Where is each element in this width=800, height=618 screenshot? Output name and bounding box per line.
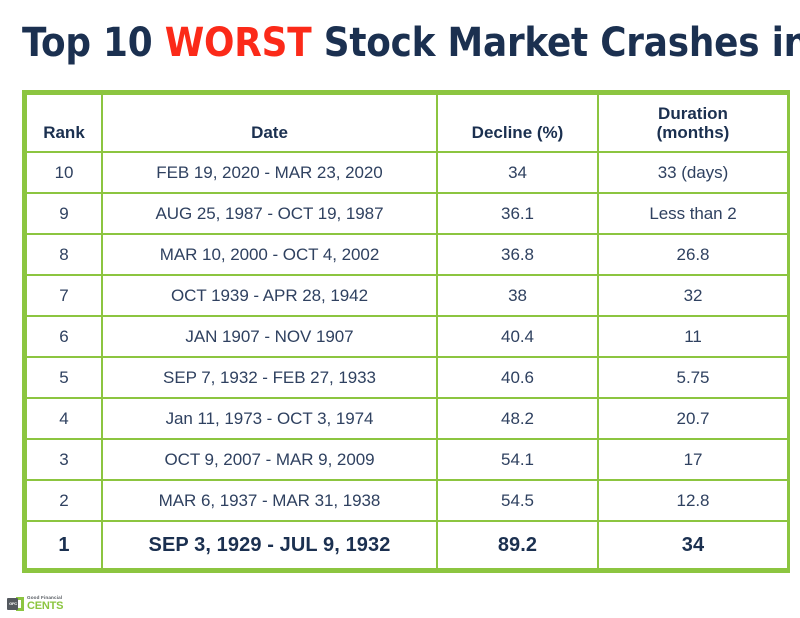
cell-decline: 89.2 [437,521,598,569]
cell-date: SEP 7, 1932 - FEB 27, 1933 [102,357,437,398]
table-row: 10 FEB 19, 2020 - MAR 23, 2020 34 33 (da… [26,152,788,193]
cell-decline: 36.1 [437,193,598,234]
table-row: 7 OCT 1939 - APR 28, 1942 38 32 [26,275,788,316]
table-body: 10 FEB 19, 2020 - MAR 23, 2020 34 33 (da… [26,152,788,569]
cell-rank: 3 [26,439,102,480]
cell-rank: 9 [26,193,102,234]
cell-rank: 5 [26,357,102,398]
page-title-part1: Top 10 [22,20,165,66]
cell-decline: 40.6 [437,357,598,398]
column-header-duration-line1: Duration [603,104,783,123]
cell-date: FEB 19, 2020 - MAR 23, 2020 [102,152,437,193]
cell-date: MAR 6, 1937 - MAR 31, 1938 [102,480,437,521]
table-row: 2 MAR 6, 1937 - MAR 31, 1938 54.5 12.8 [26,480,788,521]
cell-decline: 38 [437,275,598,316]
page-title-highlight: WORST [165,20,312,66]
cell-decline: 48.2 [437,398,598,439]
logo-wordmark: Good Financial CENTS [27,596,63,613]
column-header-date: Date [102,94,437,152]
page-title-part2: Stock Market Crashes in History [311,20,800,66]
table-row: 3 OCT 9, 2007 - MAR 9, 2009 54.1 17 [26,439,788,480]
column-header-rank: Rank [26,94,102,152]
cell-duration: 12.8 [598,480,788,521]
cell-duration: 17 [598,439,788,480]
cell-duration: 26.8 [598,234,788,275]
cell-decline: 40.4 [437,316,598,357]
table-row: 9 AUG 25, 1987 - OCT 19, 1987 36.1 Less … [26,193,788,234]
cell-rank: 2 [26,480,102,521]
table-row: 6 JAN 1907 - NOV 1907 40.4 11 [26,316,788,357]
table-row-top-rank: 1 SEP 3, 1929 - JUL 9, 1932 89.2 34 [26,521,788,569]
column-header-duration: Duration (months) [598,94,788,152]
page-title: Top 10 WORST Stock Market Crashes in His… [22,16,774,70]
crashes-table: Rank Date Decline (%) Duration (months) … [25,93,789,570]
cell-date: JAN 1907 - NOV 1907 [102,316,437,357]
cell-date: OCT 9, 2007 - MAR 9, 2009 [102,439,437,480]
cell-rank: 8 [26,234,102,275]
table-header: Rank Date Decline (%) Duration (months) [26,94,788,152]
table-header-row: Rank Date Decline (%) Duration (months) [26,94,788,152]
gfc-logo-mark-text: GFC [8,601,18,606]
table-row: 8 MAR 10, 2000 - OCT 4, 2002 36.8 26.8 [26,234,788,275]
logo-line-cents: CENTS [27,601,63,612]
table-row: 5 SEP 7, 1932 - FEB 27, 1933 40.6 5.75 [26,357,788,398]
cell-duration: 34 [598,521,788,569]
crashes-table-container: Rank Date Decline (%) Duration (months) … [22,90,790,573]
cell-decline: 36.8 [437,234,598,275]
column-header-decline: Decline (%) [437,94,598,152]
cell-decline: 54.5 [437,480,598,521]
cell-date: MAR 10, 2000 - OCT 4, 2002 [102,234,437,275]
cell-duration: 5.75 [598,357,788,398]
cell-rank: 10 [26,152,102,193]
cell-date: SEP 3, 1929 - JUL 9, 1932 [102,521,437,569]
cell-duration: Less than 2 [598,193,788,234]
column-header-duration-line2: (months) [603,123,783,142]
cell-duration: 33 (days) [598,152,788,193]
cell-decline: 34 [437,152,598,193]
cell-rank: 6 [26,316,102,357]
cell-rank: 7 [26,275,102,316]
good-financial-cents-logo: GFC Good Financial CENTS [7,594,63,614]
cell-duration: 20.7 [598,398,788,439]
table-row: 4 Jan 11, 1973 - OCT 3, 1974 48.2 20.7 [26,398,788,439]
cell-date: OCT 1939 - APR 28, 1942 [102,275,437,316]
cell-date: Jan 11, 1973 - OCT 3, 1974 [102,398,437,439]
cell-rank: 1 [26,521,102,569]
cell-rank: 4 [26,398,102,439]
cell-decline: 54.1 [437,439,598,480]
gfc-logo-icon: GFC [7,597,24,612]
gfc-logo-bar-right [21,597,24,611]
cell-date: AUG 25, 1987 - OCT 19, 1987 [102,193,437,234]
cell-duration: 32 [598,275,788,316]
cell-duration: 11 [598,316,788,357]
